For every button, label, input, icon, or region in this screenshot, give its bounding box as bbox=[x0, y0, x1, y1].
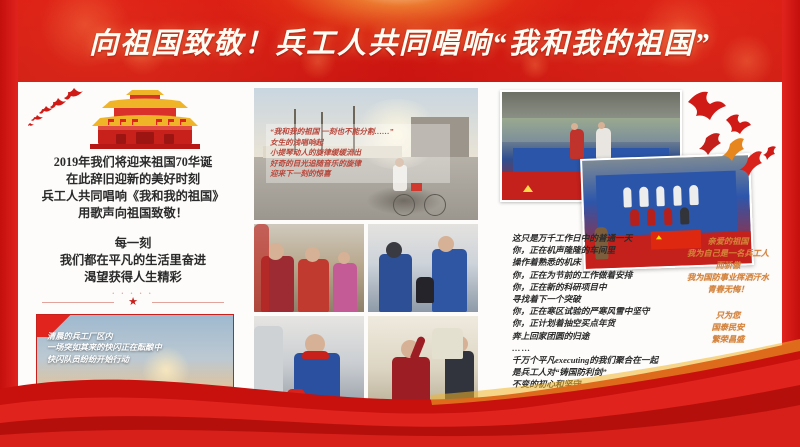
figure-body bbox=[680, 207, 689, 225]
body-line: 是兵工人对“铸国防利剑” bbox=[512, 366, 688, 378]
photo-two-workers-tablet bbox=[368, 224, 478, 312]
caption-line: 好奇的目光追随音乐的旋律 bbox=[270, 159, 446, 170]
photo-chair bbox=[416, 277, 434, 303]
figure-body bbox=[445, 351, 474, 418]
tiananmen-icon bbox=[70, 88, 220, 150]
section-divider: • • • • • ★ bbox=[42, 296, 224, 310]
caption-line: 小提琴动人的旋律缓缓流出 bbox=[270, 148, 446, 159]
intro-text-block: 2019年我们将迎来祖国70华诞 在此辞旧迎新的美好时刻 兵工人共同唱响《我和我… bbox=[24, 154, 242, 286]
photo-hall-mural bbox=[502, 118, 680, 142]
figure-body bbox=[673, 186, 682, 206]
gold-line: 我为国防事业挥洒汗水 bbox=[674, 272, 782, 284]
body-line: 你，正在寒区试验的严寒风雪中坚守 bbox=[512, 305, 688, 317]
photo-bicycle-street: “我和我的祖国 一刻也不能分割……” 女生的浅唱响起 小提琴动人的旋律缓缓流出 … bbox=[254, 88, 478, 220]
figure-body bbox=[656, 186, 665, 206]
star-icon: ★ bbox=[128, 297, 138, 308]
figure-body bbox=[392, 357, 429, 418]
flying-doves-icon bbox=[682, 86, 782, 182]
figure-body bbox=[664, 208, 673, 226]
photo-caption: 清晨的兵工厂区内 一场突如其来的快闪正在酝酿中 快闪队员纷纷开始行动 bbox=[47, 331, 217, 365]
intro-line: 2019年我们将迎来祖国70华诞 bbox=[54, 155, 212, 169]
photo-national-flag bbox=[287, 389, 305, 416]
caption-line: 一场突如其来的快闪正在酝酿中 bbox=[47, 343, 162, 352]
body-line: 寻找着下一个突破 bbox=[512, 293, 688, 305]
intro-line: 用歌声向祖国致敬！ bbox=[78, 206, 188, 220]
photo-worker-reading-flag bbox=[254, 316, 364, 418]
figure-body bbox=[623, 187, 632, 207]
star-icon bbox=[523, 185, 533, 192]
content-card: 2019年我们将迎来祖国70华诞 在此辞旧迎新的美好时刻 兵工人共同唱响《我和我… bbox=[18, 82, 782, 427]
gold-line: 青春无悔！ bbox=[674, 284, 782, 296]
photo-office-singing-women bbox=[254, 224, 364, 312]
caption-line: “我和我的祖国 一刻也不能分割……” bbox=[270, 127, 446, 138]
photo-bike-wheel bbox=[393, 194, 415, 216]
body-line: 你，正在为节前的工作做着安排 bbox=[512, 269, 688, 281]
right-column: 这只是万千工作日中的普通一天 你，正在机声隆隆的车间里 操作着熟悉的机床 你，正… bbox=[486, 82, 782, 427]
body-line: 操作着熟悉的机床 bbox=[512, 256, 688, 268]
figure-body bbox=[298, 259, 329, 312]
left-red-rail bbox=[0, 0, 18, 447]
page-title: 向祖国致敬！兵工人共同唱响“我和我的祖国” bbox=[0, 20, 800, 62]
photo-wall-frame bbox=[432, 328, 463, 359]
figure-head bbox=[338, 252, 350, 264]
body-line: 你，正计划着抽空买点年货 bbox=[512, 317, 688, 329]
photo-wall-poster bbox=[254, 224, 269, 312]
intro-line: 每一刻 bbox=[115, 236, 152, 250]
figure-body bbox=[630, 209, 639, 227]
photo-woman-waving bbox=[368, 316, 478, 418]
left-column: 2019年我们将迎来祖国70华诞 在此辞旧迎新的美好时刻 兵工人共同唱响《我和我… bbox=[18, 82, 248, 427]
intro-line: 渴望获得人生精彩 bbox=[84, 270, 182, 284]
photo-overlay-caption: “我和我的祖国 一刻也不能分割……” 女生的浅唱响起 小提琴动人的旋律缓缓流出 … bbox=[266, 124, 450, 183]
divider-line-right bbox=[152, 302, 224, 303]
body-line: 奔上回家团圆的归途 bbox=[512, 330, 688, 342]
body-line: 不变的初心和坚守 bbox=[512, 378, 688, 390]
poster-root: 向祖国致敬！兵工人共同唱响“我和我的祖国” bbox=[0, 0, 800, 447]
photo-red-collar bbox=[302, 351, 328, 359]
text-gap bbox=[674, 296, 782, 310]
figure-head bbox=[386, 242, 402, 258]
gold-line: 繁荣昌盛 bbox=[674, 334, 782, 346]
intro-line: 我们都在平凡的生活里奋进 bbox=[60, 253, 206, 267]
header-banner: 向祖国致敬！兵工人共同唱响“我和我的祖国” bbox=[0, 0, 800, 82]
photo-bike-basket bbox=[411, 183, 422, 191]
body-line: 这只是万千工作日中的普通一天 bbox=[512, 232, 688, 244]
gold-line: 而骄傲 bbox=[674, 260, 782, 272]
gold-line: 只为您 bbox=[674, 310, 782, 322]
figure-body bbox=[379, 254, 412, 312]
photo-bike-wheel bbox=[424, 194, 446, 216]
figure-body bbox=[596, 128, 610, 159]
gold-line: 我为自己是一名兵工人 bbox=[674, 248, 782, 260]
divider-line-left bbox=[42, 302, 114, 303]
caption-line: 女生的浅唱响起 bbox=[270, 138, 446, 149]
figure-body bbox=[640, 187, 649, 207]
figure-body bbox=[689, 185, 698, 205]
photo-cabinet bbox=[254, 326, 283, 418]
caption-line: 清晨的兵工厂区内 bbox=[47, 332, 113, 341]
right-red-rail bbox=[782, 0, 800, 447]
gold-line: 亲爱的祖国 bbox=[674, 236, 782, 248]
figure-body bbox=[647, 208, 656, 226]
figure-body bbox=[333, 263, 357, 312]
figure-body bbox=[432, 249, 467, 312]
intro-line: 在此辞旧迎新的美好时刻 bbox=[66, 172, 200, 186]
body-line: 千万个平凡executing的我们聚合在一起 bbox=[512, 354, 688, 366]
body-line: 你，正在机声隆隆的车间里 bbox=[512, 244, 688, 256]
center-column: “我和我的祖国 一刻也不能分割……” 女生的浅唱响起 小提琴动人的旋律缓缓流出 … bbox=[250, 82, 482, 427]
gold-line: 国泰民安 bbox=[674, 322, 782, 334]
body-line-ellipsis: …… bbox=[512, 342, 688, 354]
body-text-block: 这只是万千工作日中的普通一天 你，正在机声隆隆的车间里 操作着熟悉的机床 你，正… bbox=[512, 232, 688, 391]
caption-line: 迎来下一刻的惊喜 bbox=[270, 169, 446, 180]
gold-pledge-block: 亲爱的祖国 我为自己是一名兵工人 而骄傲 我为国防事业挥洒汗水 青春无悔！ 只为… bbox=[674, 236, 782, 346]
photo-building bbox=[88, 389, 174, 415]
photo-factory-morning: 清晨的兵工厂区内 一场突如其来的快闪正在酝酿中 快闪队员纷纷开始行动 bbox=[36, 314, 234, 420]
text-gap bbox=[24, 222, 242, 235]
photo-hall-ceiling bbox=[502, 92, 680, 120]
caption-line: 快闪队员纷纷开始行动 bbox=[47, 355, 129, 364]
figure-head bbox=[305, 247, 320, 262]
figure-body bbox=[570, 129, 584, 159]
body-line: 你，正在新的科研项目中 bbox=[512, 281, 688, 293]
intro-line: 兵工人共同唱响《我和我的祖国》 bbox=[42, 189, 225, 203]
